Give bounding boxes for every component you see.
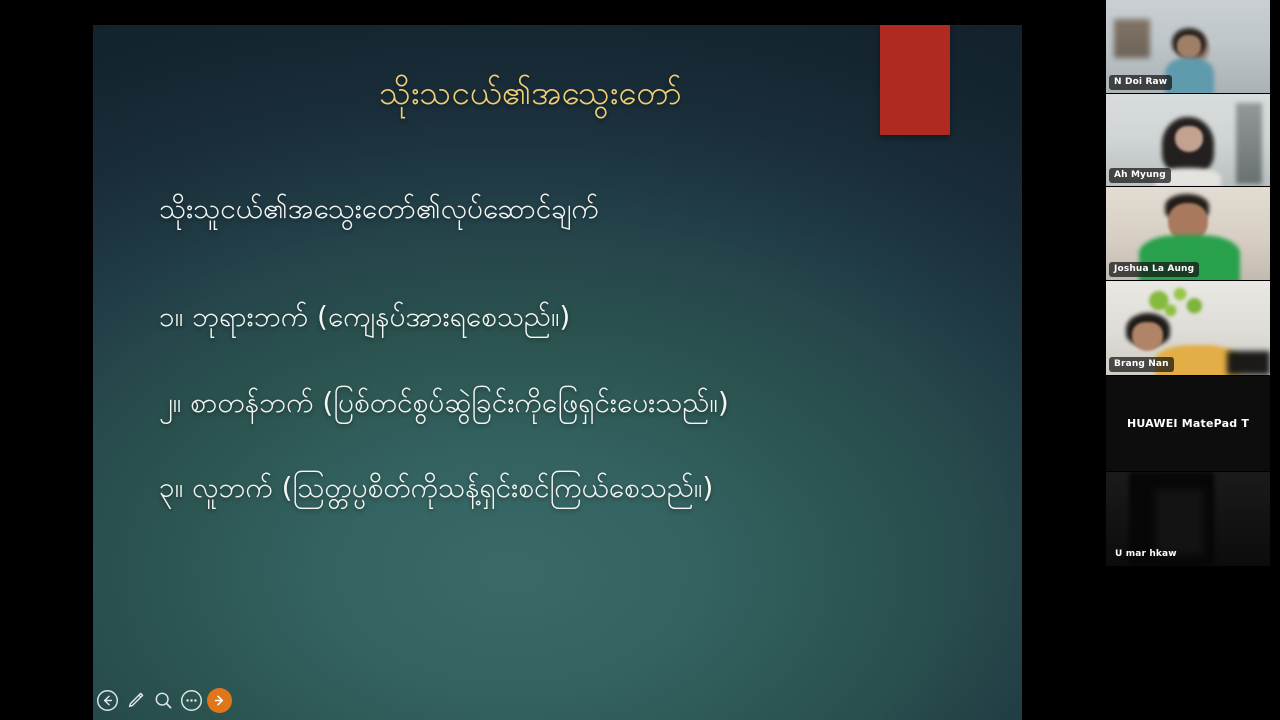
participant-name-label: Ah Myung bbox=[1109, 168, 1171, 183]
pen-icon[interactable] bbox=[123, 688, 148, 713]
magnifier-icon[interactable] bbox=[151, 688, 176, 713]
slide-body-lead: သိုးသူငယ်၏အသွေးတော်၏လုပ်ဆောင်ချက် bbox=[159, 190, 1002, 228]
participant-device-label: HUAWEI MatePad T bbox=[1106, 376, 1270, 471]
annotation-toolbar bbox=[93, 685, 234, 715]
participant-name-label: N Doi Raw bbox=[1109, 75, 1172, 90]
slide-title: သိုးသငယ်၏အသွေးတော် bbox=[93, 72, 968, 113]
participant-tile[interactable]: U mar hkaw bbox=[1106, 472, 1270, 566]
back-arrow-icon[interactable] bbox=[95, 688, 120, 713]
participant-filmstrip[interactable]: N Doi Raw Ah Myung Joshua La Aung Brang … bbox=[1100, 0, 1280, 720]
slide-body: သိုးသူငယ်၏အသွေးတော်၏လုပ်ဆောင်ချက် ၁။ ဘုရ… bbox=[159, 190, 1002, 507]
shared-screen-region: သိုးသငယ်၏အသွေးတော် သိုးသူငယ်၏အသွေးတော်၏လ… bbox=[0, 0, 1100, 720]
participant-tile[interactable]: N Doi Raw bbox=[1106, 0, 1270, 93]
slide-bullet-2: ၂။ စာတန်ဘက် (ပြစ်တင်စွပ်ဆွဲခြင်းကိုဖြေရှ… bbox=[159, 384, 1002, 422]
participant-tile[interactable]: Joshua La Aung bbox=[1106, 187, 1270, 280]
app-root: သိုးသငယ်၏အသွေးတော် သိုးသူငယ်၏အသွေးတော်၏လ… bbox=[0, 0, 1280, 720]
slide-bullet-1: ၁။ ဘုရားဘက် (ကျေနပ်အားရစေသည်။) bbox=[159, 298, 1002, 336]
participant-tile[interactable]: Ah Myung bbox=[1106, 94, 1270, 186]
participant-name-label: Brang Nan bbox=[1109, 357, 1174, 372]
more-options-icon[interactable] bbox=[179, 688, 204, 713]
participant-tile[interactable]: Brang Nan bbox=[1106, 281, 1270, 375]
participant-name-label: U mar hkaw bbox=[1110, 547, 1182, 562]
slide-bullet-3: ၃။ လူဘက် (သြတ္တပ္ပစိတ်ကိုသန့်ရှင်းစင်ကြယ… bbox=[159, 469, 1002, 507]
forward-arrow-icon[interactable] bbox=[207, 688, 232, 713]
presentation-slide[interactable]: သိုးသငယ်၏အသွေးတော် သိုးသူငယ်၏အသွေးတော်၏လ… bbox=[93, 25, 1022, 720]
participant-tile[interactable]: HUAWEI MatePad T bbox=[1106, 376, 1270, 471]
participant-name-label: Joshua La Aung bbox=[1109, 262, 1199, 277]
